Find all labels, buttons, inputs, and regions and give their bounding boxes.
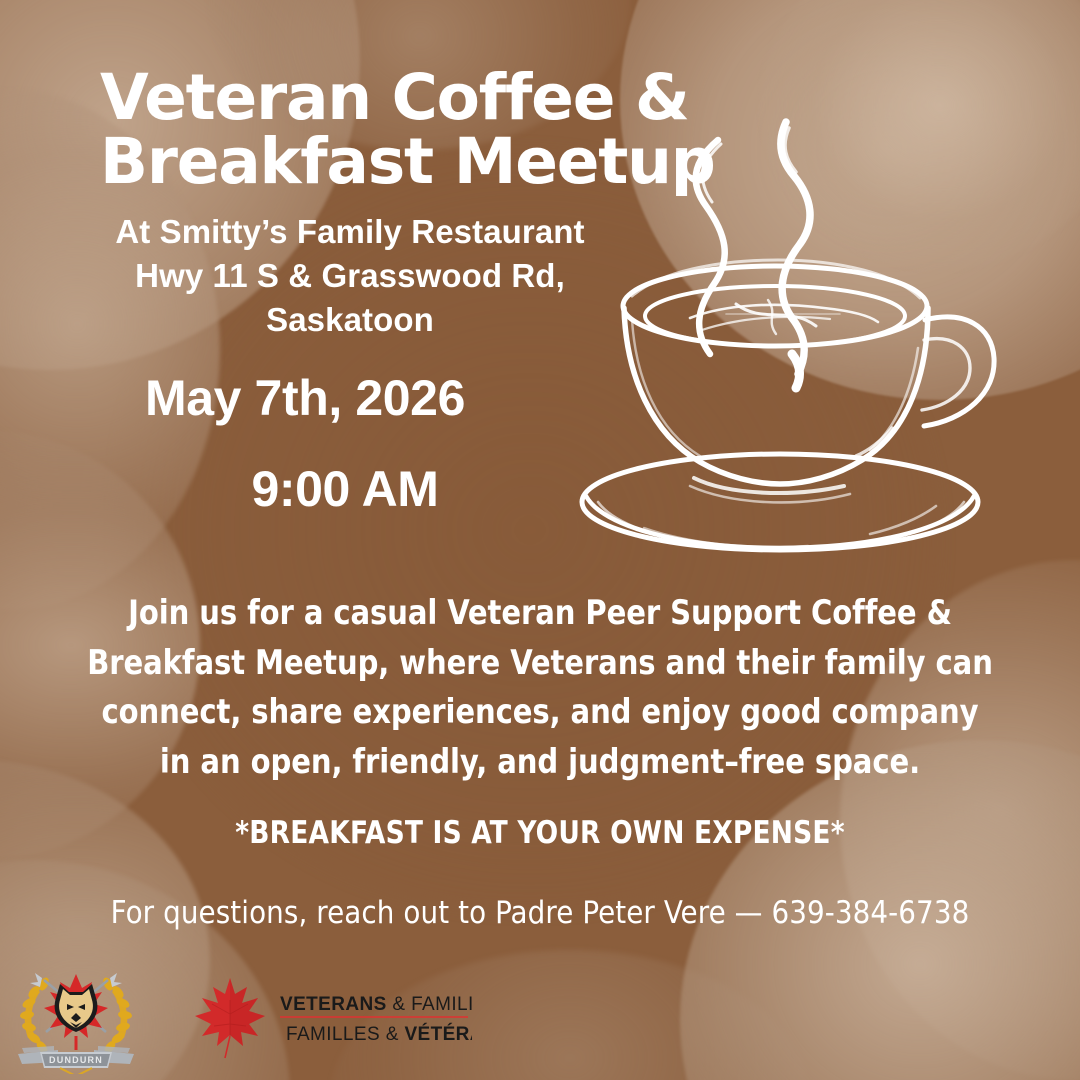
event-date: May 7th, 2026 [70,372,540,425]
page-title: Veteran Coffee & Breakfast Meetup [100,66,740,195]
vf-line-1-bold: VETERANS [280,994,387,1015]
contact-line: For questions, reach out to Padre Peter … [40,895,1040,931]
crest-banner-text: DUNDURN [49,1055,103,1065]
vf-line-2-bold: VÉTÉRANS [404,1023,472,1045]
veterans-and-families-logo-icon: VETERANS & FAMILIES FAMILLES & VÉTÉRANS [192,970,472,1060]
poster-canvas: Veteran Coffee & Breakfast Meetup At Smi… [0,0,1080,1080]
vf-line-2-rest: FAMILLES & [286,1024,404,1045]
vf-line-1-rest: & FAMILIES [387,994,472,1015]
vf-line-2: FAMILLES & VÉTÉRANS [286,1023,472,1045]
event-description: Join us for a casual Veteran Peer Suppor… [77,588,1003,786]
vf-line-1: VETERANS & FAMILIES [280,994,472,1015]
expense-disclaimer: *BREAKFAST IS AT YOUR OWN EXPENSE* [84,815,996,851]
footer-logos: DUNDURN [0,950,1080,1080]
dundurn-wolf-crest-icon: DUNDURN [14,958,138,1074]
event-time: 9:00 AM [110,463,580,516]
venue-address: At Smitty’s Family Restaurant Hwy 11 S &… [90,210,610,343]
